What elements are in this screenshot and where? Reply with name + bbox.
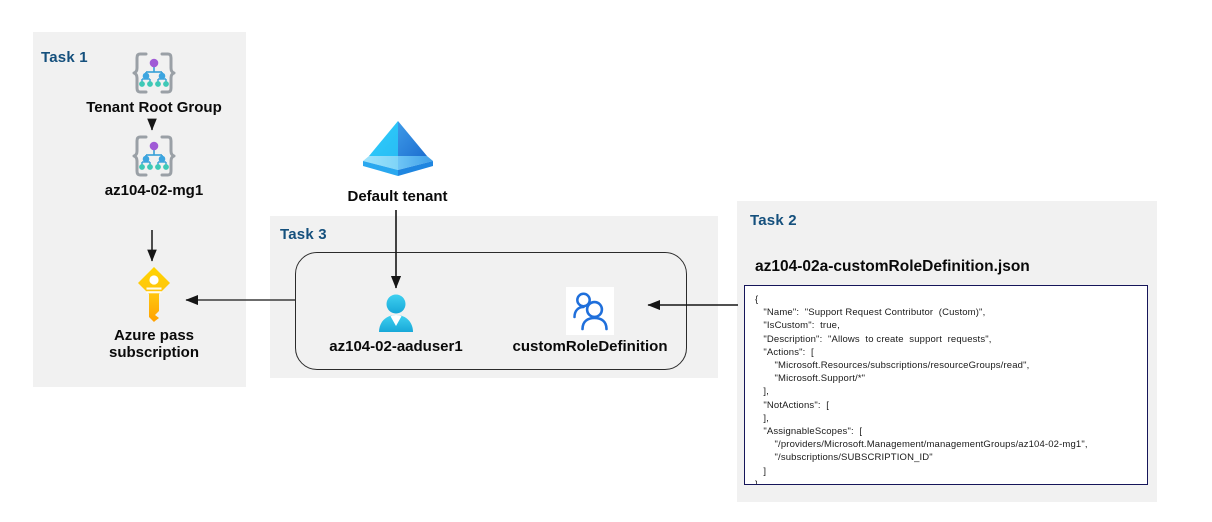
azure-ad-tenant-icon [360, 118, 436, 184]
node-label-line1: Azure pass [74, 327, 234, 344]
json-line: "/providers/Microsoft.Management/managem… [755, 438, 1137, 451]
json-line: ], [755, 385, 1137, 398]
task3-title: Task 3 [280, 226, 327, 243]
json-line: "Description": "Allows to create support… [755, 333, 1137, 346]
node-label: Tenant Root Group [74, 99, 234, 116]
key-icon [128, 265, 180, 325]
json-line: ] [755, 465, 1137, 478]
json-line: ], [755, 412, 1137, 425]
node-custom-role-definition[interactable]: customRoleDefinition [508, 287, 672, 355]
node-az104-02-mg1[interactable]: az104-02-mg1 [74, 133, 234, 199]
node-az104-02-aaduser1[interactable]: az104-02-aaduser1 [316, 292, 476, 355]
node-tenant-root-group[interactable]: Tenant Root Group [74, 50, 234, 116]
task2-title: Task 2 [750, 212, 797, 229]
json-line: } [755, 478, 1137, 485]
node-label: Default tenant [320, 188, 475, 205]
node-label: customRoleDefinition [508, 338, 672, 355]
task2-filename: az104-02a-customRoleDefinition.json [755, 258, 1030, 276]
node-label-line2: subscription [74, 344, 234, 361]
diagram-canvas: Task 1 [0, 0, 1212, 522]
node-label: az104-02-aaduser1 [316, 338, 476, 355]
node-azure-pass-subscription[interactable]: Azure pass subscription [74, 265, 234, 361]
json-line: "Actions": [ [755, 346, 1137, 359]
user-icon [374, 292, 418, 336]
management-group-icon [131, 50, 177, 96]
node-label: az104-02-mg1 [74, 182, 234, 199]
json-line: "IsCustom": true, [755, 319, 1137, 332]
node-default-tenant[interactable]: Default tenant [320, 118, 475, 205]
role-definition-icon [566, 287, 614, 335]
json-line: "Microsoft.Resources/subscriptions/resou… [755, 359, 1137, 372]
management-group-icon [131, 133, 177, 179]
json-line: "Microsoft.Support/*" [755, 372, 1137, 385]
role-definition-json-box[interactable]: { "Name": "Support Request Contributor (… [744, 285, 1148, 485]
json-line: "AssignableScopes": [ [755, 425, 1137, 438]
json-line: "Name": "Support Request Contributor (Cu… [755, 306, 1137, 319]
json-line: "NotActions": [ [755, 399, 1137, 412]
json-line: { [755, 293, 1137, 306]
json-line: "/subscriptions/SUBSCRIPTION_ID" [755, 451, 1137, 464]
